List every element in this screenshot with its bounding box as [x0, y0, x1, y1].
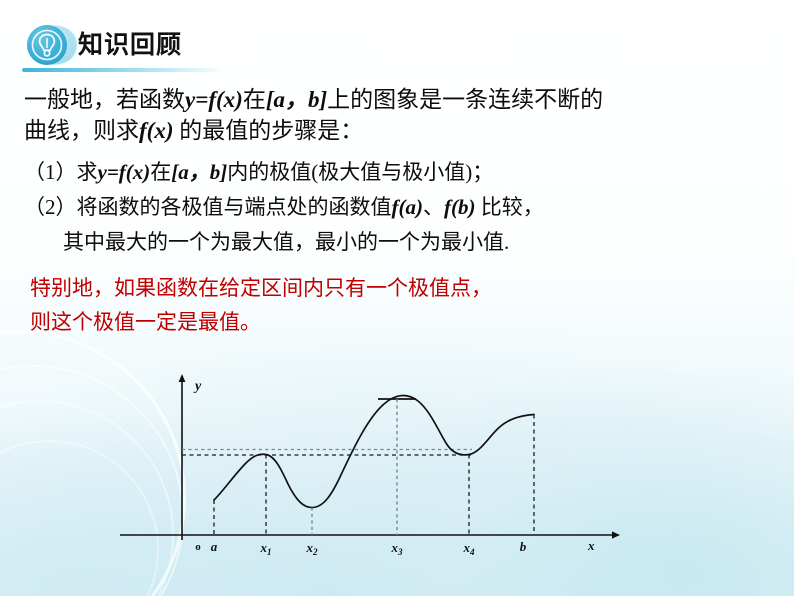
- var-y: y: [185, 87, 195, 112]
- func-f-a: f: [392, 195, 399, 219]
- step-item-2: （2）将函数的各极值与端点处的函数值f(a)、f(b) 比较，: [24, 193, 544, 222]
- intro-line-2: 曲线，则求f(x) 的最值的步骤是：: [24, 115, 363, 146]
- tick-label-x2: x2: [306, 540, 319, 557]
- var-y: y: [98, 160, 107, 184]
- equals-sign: =: [195, 87, 208, 112]
- func-f-b: f: [444, 195, 451, 219]
- func-f: f: [208, 87, 216, 112]
- intro2-text-b: 的最值的步骤是：: [174, 118, 364, 143]
- tick-label-b: b: [520, 539, 527, 554]
- intro2-text-a: 曲线，则求: [24, 118, 139, 143]
- interval-ab: [a，b]: [266, 87, 327, 112]
- interval-ab: [a，b]: [171, 160, 227, 184]
- item1-in: 在: [150, 160, 171, 184]
- tick-label-x3: x3: [391, 540, 404, 557]
- func-arg-x: (x): [216, 87, 243, 112]
- func-f: f: [119, 160, 126, 184]
- y-axis-label: y: [193, 379, 202, 394]
- icon-disc: [27, 25, 67, 65]
- tick-label-x1: x1: [260, 540, 272, 557]
- function-curve: [214, 396, 534, 508]
- item1-tail: 内的极值(极大值与极小值)；: [227, 160, 493, 184]
- lightbulb-head-icon: [27, 24, 71, 66]
- page-title: 知识回顾: [78, 28, 182, 62]
- x-axis-label: x: [587, 538, 595, 553]
- func-arg-a: (a): [399, 195, 424, 219]
- item2-tail: 比较，: [476, 195, 544, 219]
- slide-header: 知识回顾: [0, 22, 794, 68]
- tick-label-a: a: [211, 539, 218, 554]
- intro-line-1: 一般地，若函数y=f(x)在[a，b]上的图象是一条连续不断的: [24, 84, 603, 115]
- y-axis-arrow: [179, 374, 186, 382]
- origin-label: o: [195, 541, 201, 553]
- note-line-1: 特别地，如果函数在给定区间内只有一个极值点，: [30, 274, 492, 303]
- item2-separator: 、: [423, 195, 444, 219]
- tick-label-x4: x4: [463, 540, 476, 557]
- note-line-2: 则这个极值一定是最值。: [30, 308, 261, 337]
- step-item-2-continued: 其中最大的一个为最大值，最小的一个为最小值.: [63, 228, 509, 257]
- item2-number: （2）将函数的各极值与端点处的函数值: [24, 195, 392, 219]
- x-axis-arrow: [612, 531, 620, 538]
- intro-text-b: 在: [243, 87, 266, 112]
- func-arg-x: (x): [126, 160, 151, 184]
- function-graph: o y x a x1 x2 x3 x4 b: [120, 368, 620, 563]
- intro-text-a: 一般地，若函数: [24, 87, 185, 112]
- func-arg-b: (b): [451, 195, 476, 219]
- equals-sign: =: [107, 160, 119, 184]
- func-arg-x: (x): [147, 118, 174, 143]
- intro-text-c: 上的图象是一条连续不断的: [327, 87, 603, 112]
- slide-canvas: 知识回顾 一般地，若函数y=f(x)在[a，b]上的图象是一条连续不断的 曲线，…: [0, 0, 794, 596]
- step-item-1: （1）求y=f(x)在[a，b]内的极值(极大值与极小值)；: [24, 158, 493, 187]
- item1-number: （1）求: [24, 160, 98, 184]
- header-underline: [22, 68, 227, 72]
- func-f: f: [139, 118, 147, 143]
